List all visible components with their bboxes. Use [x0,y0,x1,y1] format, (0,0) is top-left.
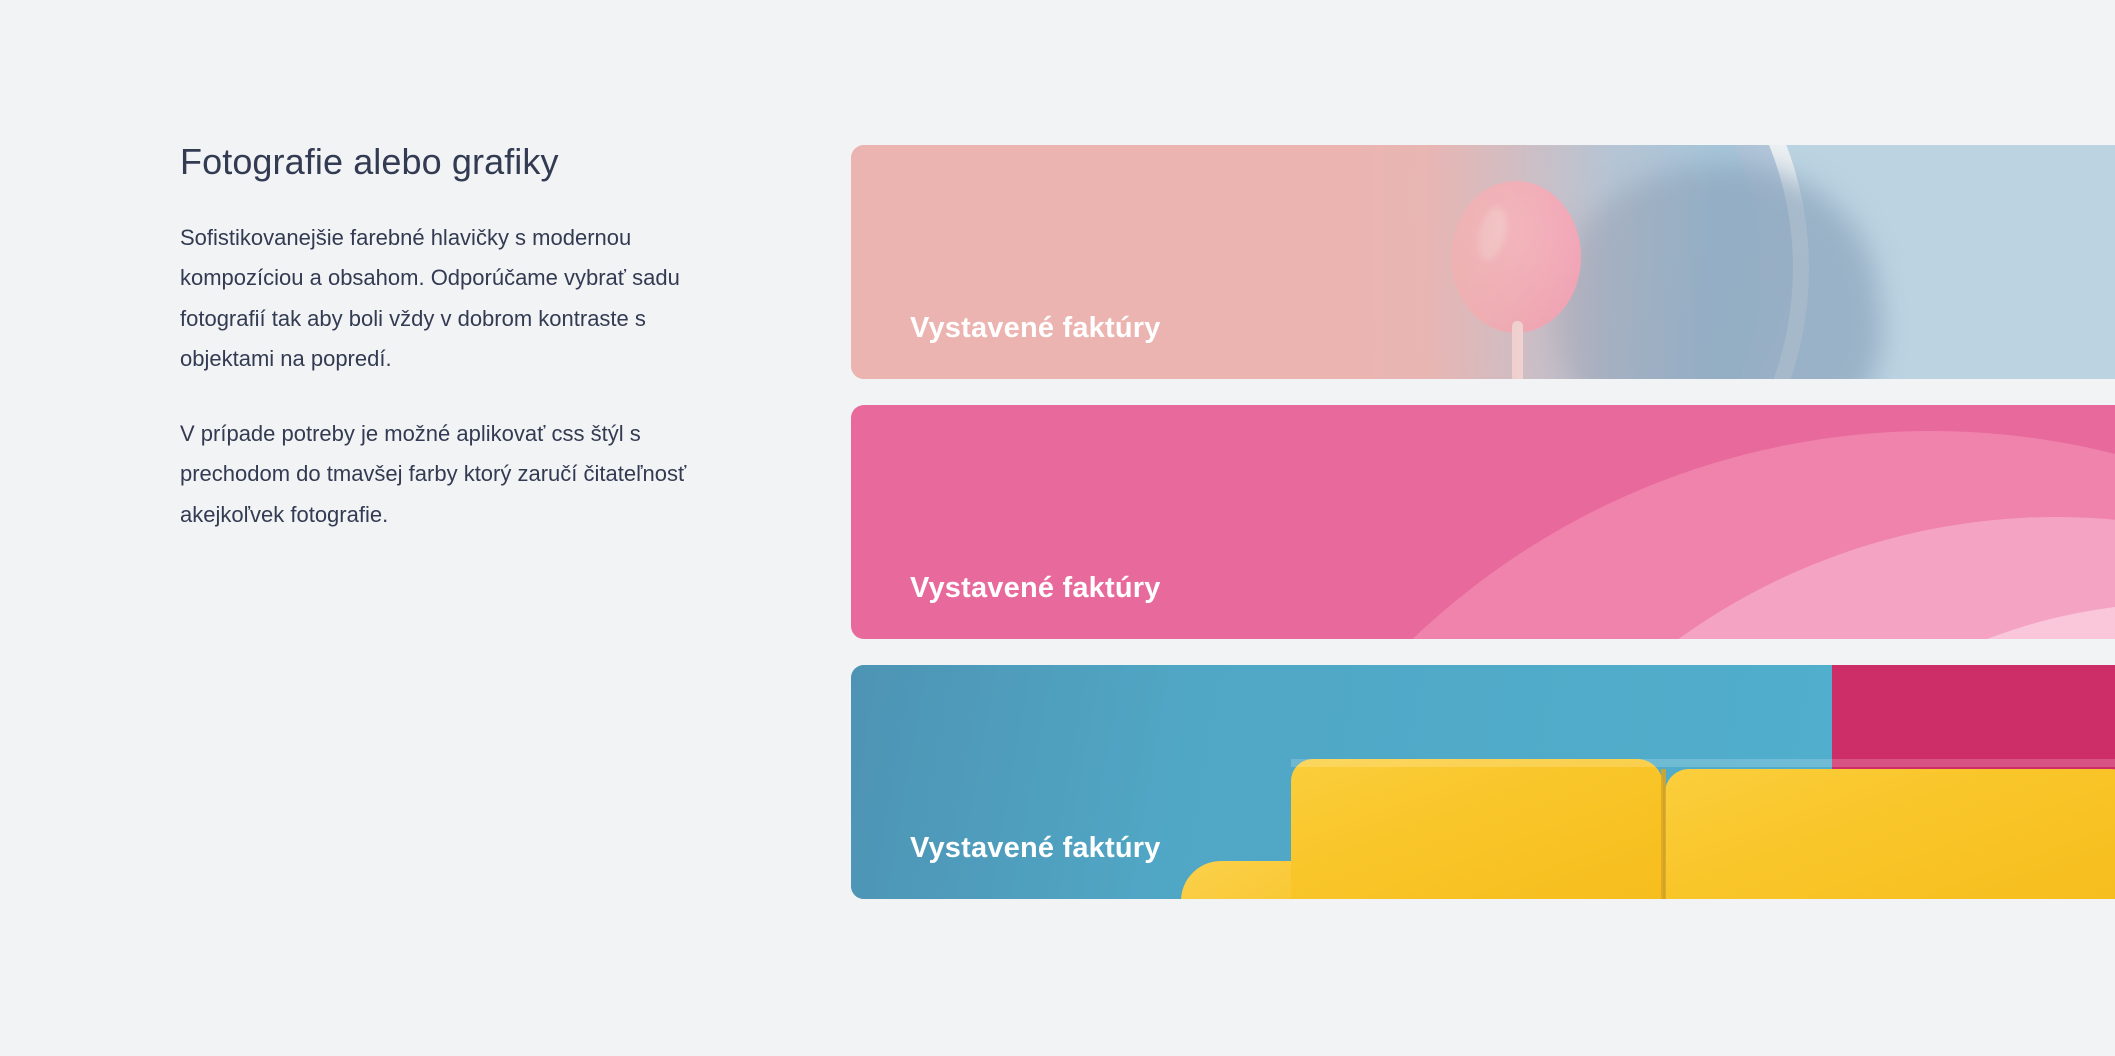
intro-copy-block: Fotografie alebo grafiky Sofistikovanejš… [180,140,700,535]
description-paragraph-1: Sofistikovanejšie farebné hlavičky s mod… [180,218,690,380]
page-title: Fotografie alebo grafiky [180,140,700,184]
banner-card-1[interactable]: Vystavené faktúry [851,145,2115,379]
sofa-cushion-highlight [1291,759,2115,767]
banner-card-2[interactable]: Vystavené faktúry [851,405,2115,639]
description-paragraph-2: V prípade potreby je možné aplikovať css… [180,414,690,536]
sofa-cushion-seam [1661,769,1666,899]
sofa-cushion-left [1291,759,1663,899]
sofa-cushion-right [1665,769,2115,899]
banner-label-2: Vystavené faktúry [910,574,1161,603]
banner-label-1: Vystavené faktúry [910,314,1161,343]
banner-card-3[interactable]: Vystavené faktúry [851,665,2115,899]
banner-label-3: Vystavené faktúry [910,834,1161,863]
banner-list: Vystavené faktúry Vystavené faktúry Vyst… [851,145,2115,899]
